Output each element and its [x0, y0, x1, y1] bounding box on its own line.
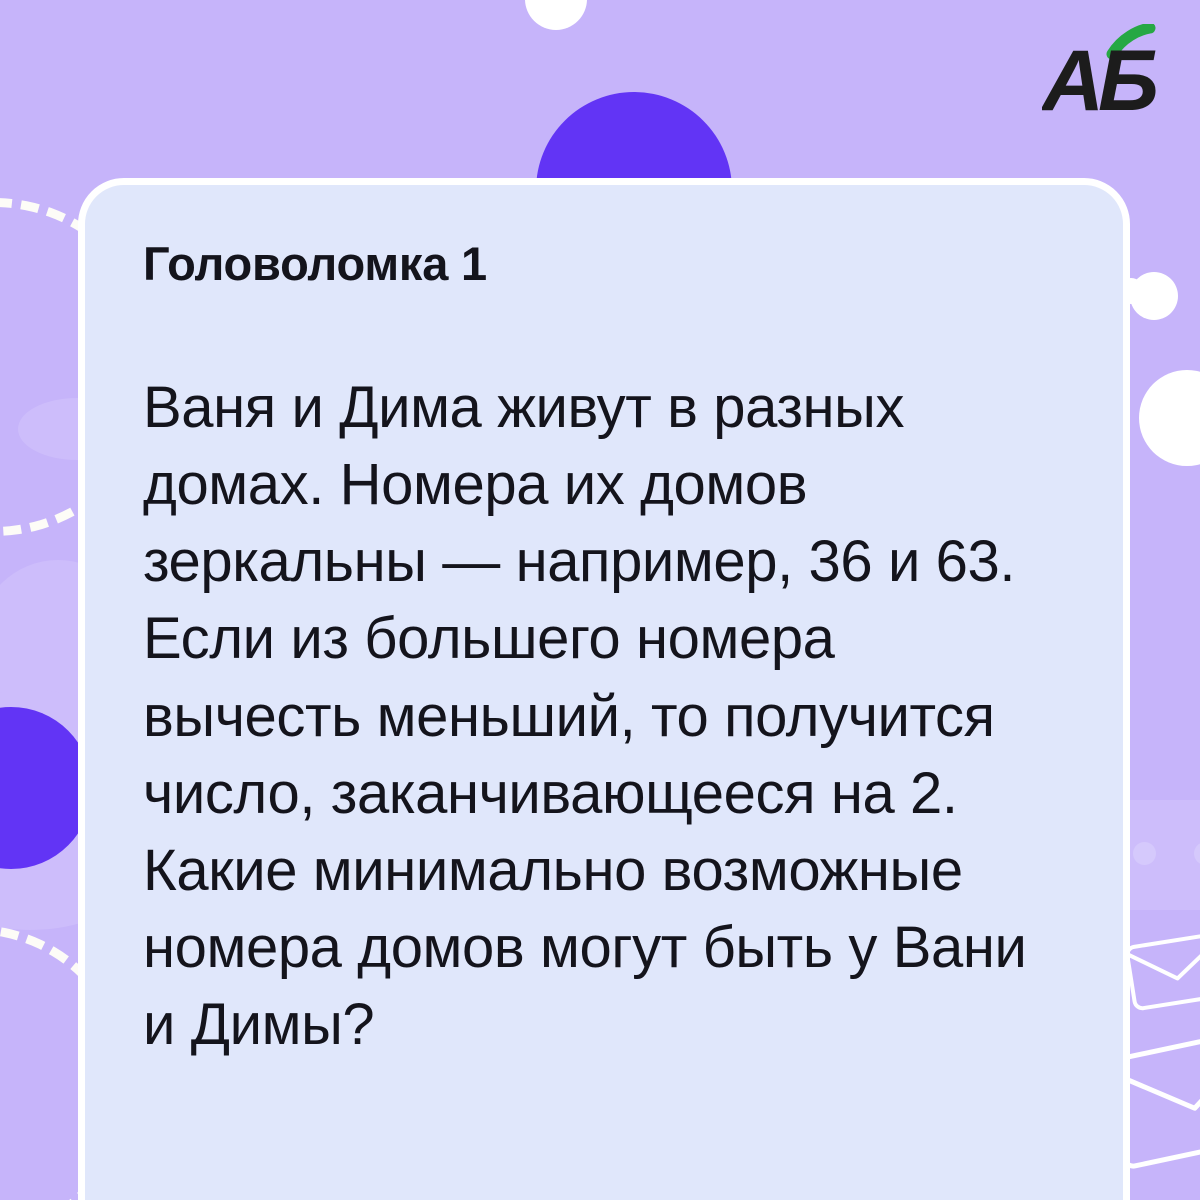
dot — [1133, 842, 1156, 865]
slide-canvas: Головоломка 1 Ваня и Дима живут в разных… — [0, 0, 1200, 1200]
white-circle-top — [525, 0, 587, 30]
tonal-band-right — [1120, 800, 1200, 910]
brand-logo[interactable]: А Б — [1042, 24, 1162, 124]
envelope-icon-small — [1125, 930, 1200, 1020]
page-title: Головоломка 1 — [143, 237, 1065, 291]
logo-letter-a: А — [1042, 33, 1104, 124]
dot — [1194, 842, 1200, 865]
logo-icon: А Б — [1042, 24, 1162, 124]
white-circle-right-small — [1130, 272, 1178, 320]
puzzle-text: Ваня и Дима живут в разных домах. Номера… — [143, 291, 1065, 1063]
logo-letter-b: Б — [1098, 33, 1159, 124]
dot-row-right — [1133, 842, 1200, 865]
puzzle-card: Головоломка 1 Ваня и Дима живут в разных… — [78, 178, 1130, 1200]
white-circle-right-large — [1139, 370, 1200, 466]
